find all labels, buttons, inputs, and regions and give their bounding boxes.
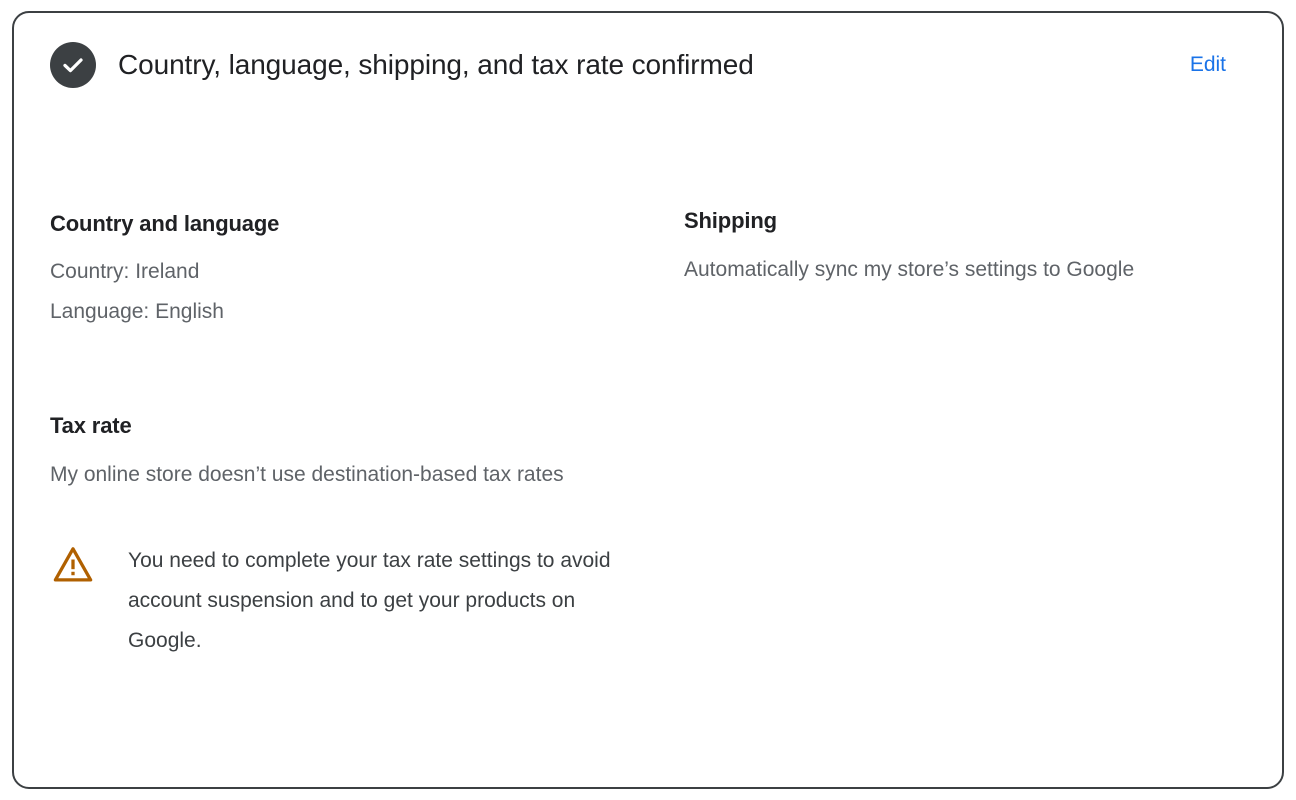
two-column-layout: Country and language Country: Ireland La… <box>50 117 1246 661</box>
confirmation-card: Country, language, shipping, and tax rat… <box>12 11 1284 789</box>
warning-message: You need to complete your tax rate setti… <box>96 541 628 661</box>
check-circle-icon <box>50 42 96 88</box>
edit-button[interactable]: Edit <box>1184 48 1232 82</box>
country-language-heading: Country and language <box>50 210 672 238</box>
tax-rate-warning: You need to complete your tax rate setti… <box>50 541 672 661</box>
warning-triangle-icon <box>50 541 96 583</box>
shipping-value: Automatically sync my store’s settings t… <box>684 249 1224 290</box>
tax-rate-value: My online store doesn’t use destination-… <box>50 454 590 495</box>
screen: Country, language, shipping, and tax rat… <box>0 0 1296 800</box>
column-left: Country and language Country: Ireland La… <box>50 117 672 661</box>
card-header: Country, language, shipping, and tax rat… <box>14 13 1282 117</box>
country-value: Country: Ireland <box>50 252 672 292</box>
shipping-heading: Shipping <box>684 207 1246 235</box>
language-value: Language: English <box>50 292 672 332</box>
tax-rate-heading: Tax rate <box>50 412 672 440</box>
section-country-and-language: Country and language Country: Ireland La… <box>50 117 672 332</box>
column-right: Shipping Automatically sync my store’s s… <box>672 117 1246 290</box>
section-tax-rate: Tax rate My online store doesn’t use des… <box>50 412 672 661</box>
card-body: Country and language Country: Ireland La… <box>14 117 1282 661</box>
section-shipping: Shipping Automatically sync my store’s s… <box>684 117 1246 290</box>
page-title: Country, language, shipping, and tax rat… <box>118 48 1184 82</box>
